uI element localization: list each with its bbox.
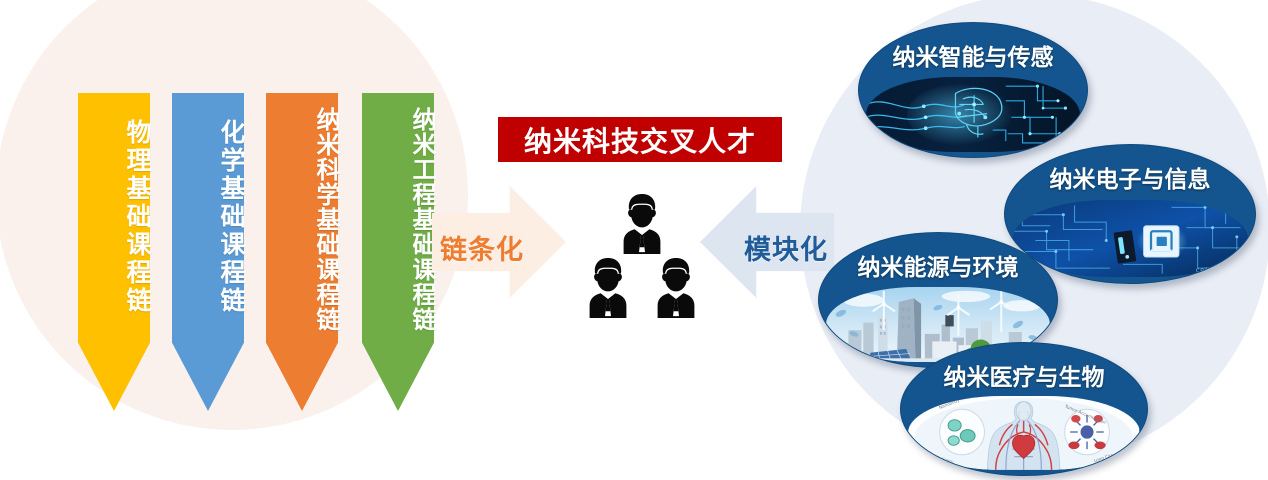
brain-circuit-image bbox=[866, 77, 1080, 152]
diagram-canvas: 物理基础课程链 化学基础课程链 纳米科学基础课程链 纳米工程基础课程链 纳米科技… bbox=[0, 0, 1268, 480]
flow-arrow-label: 链条化 bbox=[440, 228, 524, 267]
course-chain-chemistry[interactable]: 化学基础课程链 bbox=[172, 93, 244, 411]
domain-label: 纳米智能与传感 bbox=[859, 38, 1087, 72]
domain-label: 纳米电子与信息 bbox=[1005, 160, 1255, 194]
domain-ellipse-medicine-biology[interactable]: Nanobody-loaded NP Delivery Tumor Accum bbox=[900, 342, 1148, 476]
flow-arrow-label: 模块化 bbox=[744, 228, 828, 267]
person-in-suit-icon bbox=[648, 256, 704, 320]
flow-arrow-modularization[interactable]: 模块化 bbox=[700, 186, 834, 298]
person-in-suit-icon bbox=[580, 256, 636, 320]
human-anatomy-nanomedicine-image: Nanobody-loaded NP Delivery Tumor Accum bbox=[908, 396, 1139, 470]
chain-label: 化学基础课程链 bbox=[172, 119, 244, 315]
course-chain-physics[interactable]: 物理基础课程链 bbox=[78, 93, 150, 411]
domain-ellipse-intelligence-sensing[interactable]: 纳米智能与传感 bbox=[858, 22, 1088, 158]
chain-label: 纳米工程基础课程链 bbox=[362, 107, 434, 332]
chain-label: 物理基础课程链 bbox=[78, 119, 150, 315]
domain-label: 纳米医疗与生物 bbox=[901, 358, 1147, 392]
chain-label: 纳米科学基础课程链 bbox=[266, 107, 338, 332]
domain-label: 纳米能源与环境 bbox=[819, 248, 1057, 282]
course-chain-nanoengineering[interactable]: 纳米工程基础课程链 bbox=[362, 93, 434, 411]
course-chain-nanoscience[interactable]: 纳米科学基础课程链 bbox=[266, 93, 338, 411]
title-banner-label: 纳米科技交叉人才 bbox=[524, 120, 756, 160]
flow-arrow-chainification[interactable]: 链条化 bbox=[432, 186, 566, 298]
title-banner: 纳米科技交叉人才 bbox=[498, 117, 782, 162]
person-in-suit-icon bbox=[614, 192, 670, 256]
people-cluster bbox=[566, 192, 718, 328]
